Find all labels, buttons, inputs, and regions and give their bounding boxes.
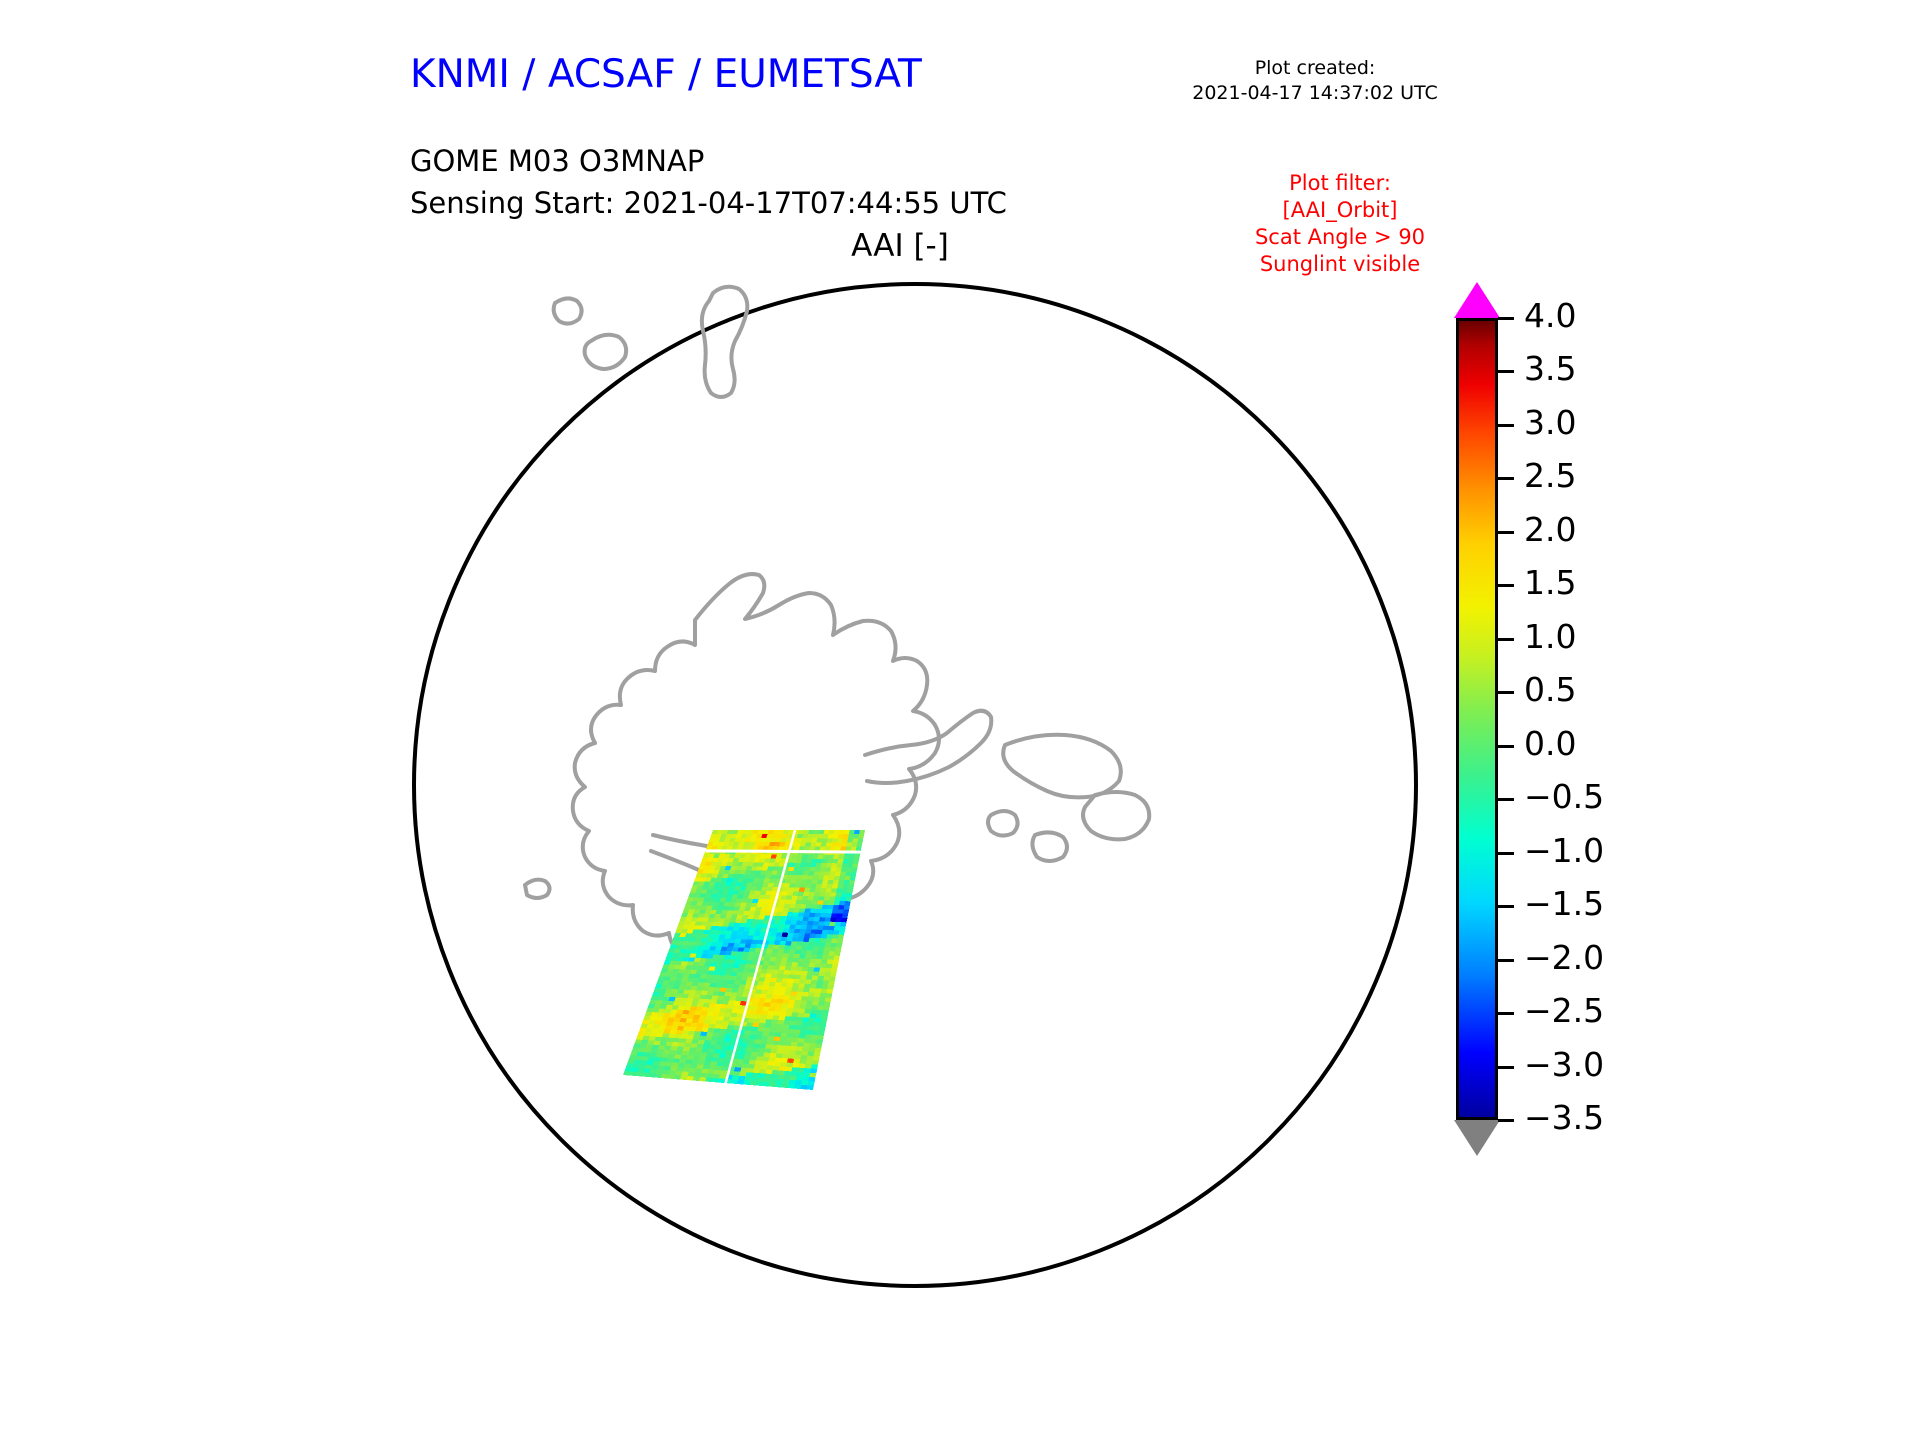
- colorbar-tick: [1498, 905, 1514, 908]
- colorbar-tick: [1498, 317, 1514, 320]
- colorbar-tick-label: 1.5: [1524, 563, 1576, 602]
- colorbar-over-range-arrow: [1454, 282, 1500, 318]
- plot-created-block: Plot created: 2021-04-17 14:37:02 UTC: [1150, 56, 1480, 106]
- plot-filter-line-3: Sunglint visible: [1190, 251, 1490, 278]
- colorbar-tick: [1498, 1119, 1514, 1122]
- plot-filter-block: Plot filter: [AAI_Orbit] Scat Angle > 90…: [1190, 170, 1490, 278]
- colorbar-tick-label: 3.5: [1524, 349, 1576, 388]
- colorbar-tick: [1498, 424, 1514, 427]
- colorbar-tick-label: 2.0: [1524, 510, 1576, 549]
- colorbar-under-range-arrow: [1454, 1120, 1500, 1156]
- colorbar-tick: [1498, 691, 1514, 694]
- colorbar-tick: [1498, 477, 1514, 480]
- colorbar-tick-label: 0.0: [1524, 724, 1576, 763]
- colorbar-tick: [1498, 638, 1514, 641]
- polar-map: [395, 275, 1435, 1335]
- plot-filter-line-1: [AAI_Orbit]: [1190, 197, 1490, 224]
- colorbar-tick: [1498, 1012, 1514, 1015]
- colorbar-tick: [1498, 531, 1514, 534]
- colorbar-tick-label: 1.0: [1524, 617, 1576, 656]
- page-title: AAI [-]: [700, 228, 1100, 264]
- colorbar-tick: [1498, 745, 1514, 748]
- colorbar-tick-label: 0.5: [1524, 670, 1576, 709]
- colorbar-tick-label: −2.0: [1524, 938, 1604, 977]
- colorbar-gradient: [1456, 318, 1498, 1120]
- plot-filter-line-2: Scat Angle > 90: [1190, 224, 1490, 251]
- colorbar-tick-label: 3.0: [1524, 403, 1576, 442]
- sensing-start-line: Sensing Start: 2021-04-17T07:44:55 UTC: [410, 182, 1007, 224]
- colorbar-tick-label: −3.5: [1524, 1098, 1604, 1137]
- colorbar-tick-label: −2.5: [1524, 991, 1604, 1030]
- colorbar-tick: [1498, 852, 1514, 855]
- aai-swath: [395, 275, 1435, 1335]
- organisation-title: KNMI / ACSAF / EUMETSAT: [410, 52, 922, 97]
- colorbar-tick-label: 2.5: [1524, 456, 1576, 495]
- plot-created-label: Plot created:: [1150, 56, 1480, 81]
- plot-canvas: KNMI / ACSAF / EUMETSAT Plot created: 20…: [0, 0, 1920, 1440]
- plot-created-timestamp: 2021-04-17 14:37:02 UTC: [1150, 81, 1480, 106]
- colorbar-tick-label: −1.0: [1524, 831, 1604, 870]
- colorbar-tick: [1498, 798, 1514, 801]
- plot-filter-title: Plot filter:: [1190, 170, 1490, 197]
- colorbar: 4.03.53.02.52.01.51.00.50.0−0.5−1.0−1.5−…: [1440, 282, 1860, 1292]
- colorbar-tick: [1498, 1066, 1514, 1069]
- colorbar-tick: [1498, 959, 1514, 962]
- instrument-block: GOME M03 O3MNAP Sensing Start: 2021-04-1…: [410, 140, 1007, 224]
- colorbar-tick-label: 4.0: [1524, 296, 1576, 335]
- colorbar-tick: [1498, 584, 1514, 587]
- colorbar-tick-label: −3.0: [1524, 1045, 1604, 1084]
- colorbar-tick-label: −1.5: [1524, 884, 1604, 923]
- colorbar-tick: [1498, 370, 1514, 373]
- instrument-line: GOME M03 O3MNAP: [410, 140, 1007, 182]
- colorbar-tick-label: −0.5: [1524, 777, 1604, 816]
